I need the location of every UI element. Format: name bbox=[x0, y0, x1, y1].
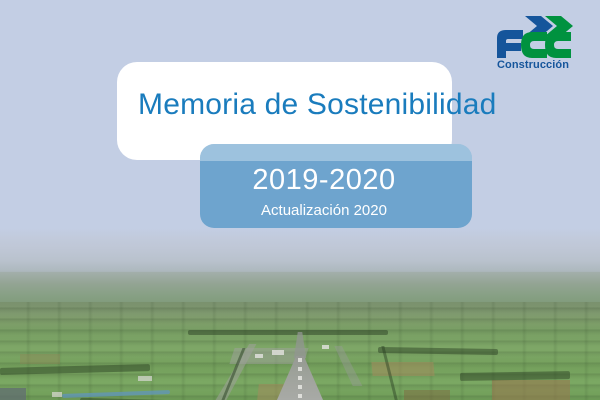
fcc-logo-caption: Construcción bbox=[487, 59, 579, 71]
report-years: 2019-2020 bbox=[200, 164, 448, 197]
photo-building bbox=[272, 350, 284, 355]
photo-building bbox=[255, 354, 263, 358]
photo-field-patch bbox=[404, 390, 450, 400]
page-title: Memoria de Sostenibilidad bbox=[138, 88, 497, 122]
photo-treeline bbox=[188, 330, 388, 335]
photo-runway-centerline bbox=[298, 358, 302, 400]
report-update-note: Actualización 2020 bbox=[200, 202, 448, 219]
photo-building bbox=[322, 345, 329, 349]
fcc-letter-f bbox=[497, 30, 523, 58]
photo-field-patch bbox=[492, 380, 570, 400]
photo-sky-band bbox=[0, 228, 600, 276]
photo-horizon-haze bbox=[0, 272, 600, 306]
photo-building bbox=[0, 388, 26, 400]
fcc-letter-c-1 bbox=[521, 32, 547, 58]
photo-building bbox=[138, 376, 152, 381]
cover-page: Memoria de Sostenibilidad 2019-2020 Actu… bbox=[0, 0, 600, 400]
photo-building bbox=[52, 392, 62, 397]
photo-field-patch bbox=[371, 362, 434, 376]
photo-field-patch bbox=[20, 354, 60, 364]
background-photo bbox=[0, 228, 600, 400]
fcc-letter-c-2 bbox=[545, 32, 571, 58]
